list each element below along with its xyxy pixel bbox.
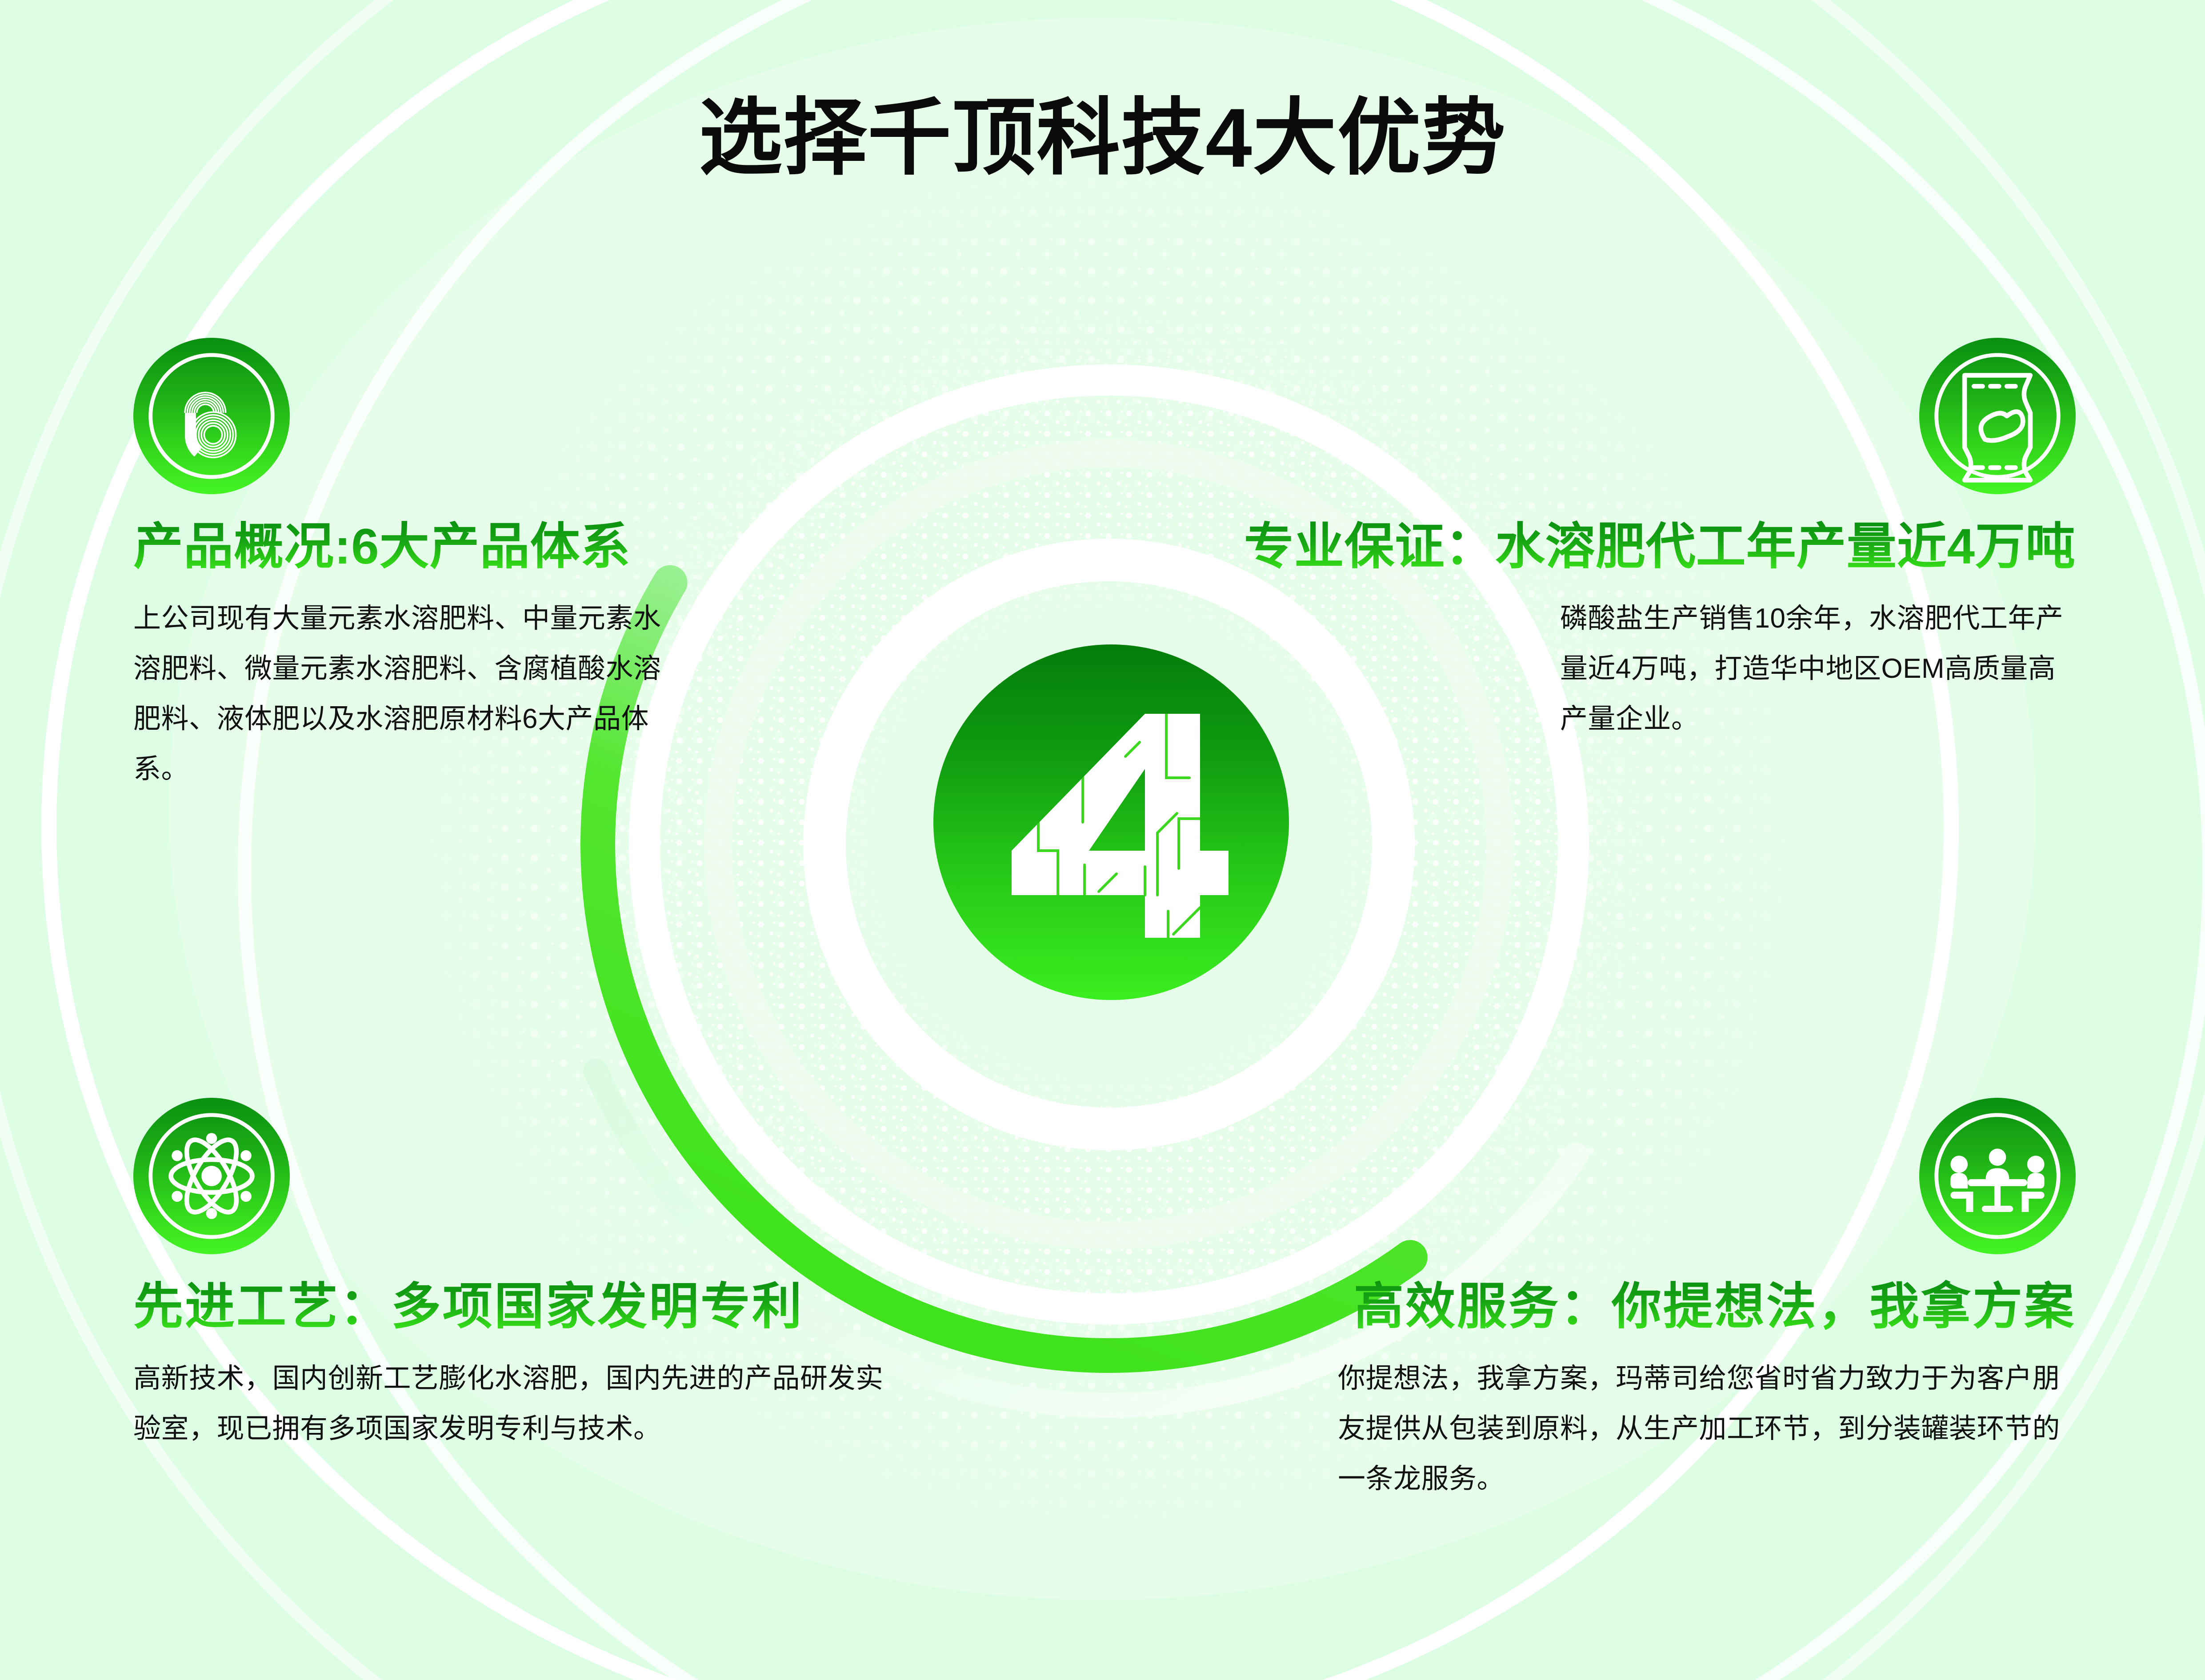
meeting-people-icon [1919, 1098, 2076, 1254]
fertilizer-bag-icon [1919, 338, 2076, 494]
feature-heading: 先进工艺：多项国家发明专利 [133, 1277, 898, 1336]
icon-disc [1919, 1098, 2076, 1254]
icon-disc [133, 338, 290, 494]
feature-body: 磷酸盐生产销售10余年，水溶肥代工年产量近4万吨，打造华中地区OEM高质量高产量… [1560, 594, 2076, 744]
icon-disc [1919, 338, 2076, 494]
icon-disc [133, 1098, 290, 1254]
feature-body: 你提想法，我拿方案，玛蒂司给您省时省力致力于为客户朋友提供从包装到原料，从生产加… [1338, 1354, 2076, 1504]
feature-heading: 专业保证：水溶肥代工年产量近4万吨 [1196, 517, 2076, 576]
feature-heading: 产品概况:6大产品体系 [133, 517, 711, 576]
infographic-stage: 选择千顶科技4大优势 [0, 0, 2205, 1680]
feature-card-top-left: 产品概况:6大产品体系 上公司现有大量元素水溶肥料、中量元素水溶肥料、微量元素水… [133, 338, 711, 794]
feature-body: 上公司现有大量元素水溶肥料、中量元素水溶肥料、微量元素水溶肥料、含腐植酸水溶肥料… [133, 594, 678, 794]
feature-body: 高新技术，国内创新工艺膨化水溶肥，国内先进的产品研发实验室，现已拥有多项国家发明… [133, 1354, 889, 1454]
feature-card-bottom-right: 高效服务：你提想法，我拿方案 你提想法，我拿方案，玛蒂司给您省时省力致力于为客户… [1307, 1098, 2076, 1504]
center-number-disc [933, 644, 1289, 1000]
six-rings-icon [133, 338, 290, 494]
feature-heading: 高效服务：你提想法，我拿方案 [1307, 1277, 2076, 1336]
feature-card-bottom-left: 先进工艺：多项国家发明专利 高新技术，国内创新工艺膨化水溶肥，国内先进的产品研发… [133, 1098, 898, 1454]
center-medallion [887, 618, 1336, 1067]
page-title: 选择千顶科技4大优势 [0, 91, 2205, 185]
atom-icon [133, 1098, 290, 1254]
